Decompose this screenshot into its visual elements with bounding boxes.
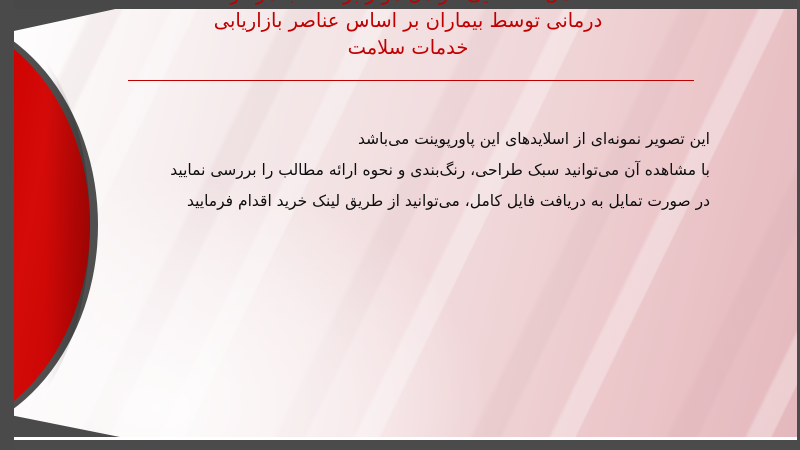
title-line-3: خدمات سلامت xyxy=(98,34,718,61)
title-line-2: درمانی توسط بیماران بر اساس عناصر بازاری… xyxy=(98,7,718,34)
slide-body-text: این تصویر نمونه‌ای از اسلایدهای این پاور… xyxy=(110,124,710,217)
title-divider-rule xyxy=(128,80,694,81)
title-line-1: کامل شناسایی عوامل مؤثر بر انتخاب مراکز xyxy=(98,0,718,7)
presentation-slide: کامل شناسایی عوامل مؤثر بر انتخاب مراکز … xyxy=(0,0,800,450)
body-line-3: در صورت تمایل به دریافت فایل کامل، می‌تو… xyxy=(110,186,710,217)
slide-background xyxy=(0,8,800,440)
body-line-1: این تصویر نمونه‌ای از اسلایدهای این پاور… xyxy=(110,124,710,155)
slide-title: کامل شناسایی عوامل مؤثر بر انتخاب مراکز … xyxy=(98,0,718,61)
frame-band-bottom xyxy=(0,440,800,450)
red-lens-decoration xyxy=(0,8,98,442)
frame-band-left xyxy=(0,0,14,450)
body-line-2: با مشاهده آن می‌توانید سبک طراحی، رنگ‌بن… xyxy=(110,155,710,186)
